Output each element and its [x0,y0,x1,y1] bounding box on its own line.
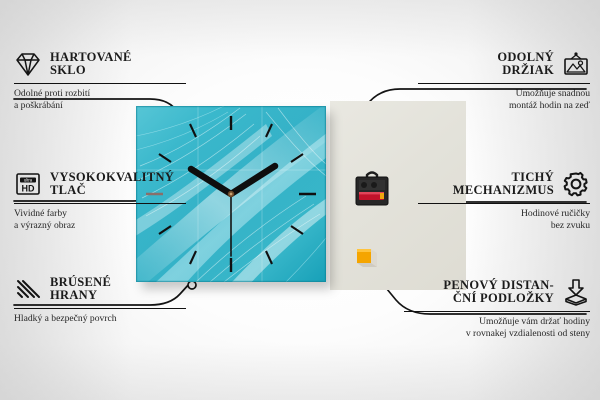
ultra-hd-badge-icon: ultra HD [14,170,42,198]
feature-subtitle-line1: Umožňuje vám držať hodiny [404,316,590,328]
feature-title: TICHÝ MECHANIZMUS [453,171,554,198]
feature-header: TICHÝ MECHANIZMUS [418,170,590,198]
feature-subtitle-line1: Odolné proti rozbití [14,88,186,100]
feature-tempered-glass: HARTOVANÉ SKLO Odolné proti rozbití a po… [14,50,186,111]
feature-ground-edges: BRÚSENÉ HRANY Hladký a bezpečný povrch [14,275,186,325]
feature-divider [418,203,590,204]
feature-subtitle-line1: Hladký a bezpečný povrch [14,313,186,325]
feature-header: BRÚSENÉ HRANY [14,275,186,303]
feature-divider [14,308,186,309]
foam-spacer-icon [562,278,590,306]
feature-subtitle-line1: Vividné farby [14,208,186,220]
svg-text:ultra: ultra [24,178,33,183]
feature-subtitle-line2: montáž hodin na zeď [418,100,590,112]
foam-spacer-pad [357,249,377,267]
feature-title: PENOVÝ DISTAN- ČNÍ PODLOŽKY [443,279,554,306]
diamond-icon [14,50,42,78]
gear-icon [562,170,590,198]
feature-durable-hanger: ODOLNÝ DRŽIAK Umožňuje snadnou montáž ho… [418,50,590,111]
feature-subtitle-line1: Hodinové ručičky [418,208,590,220]
feature-title: HARTOVANÉ SKLO [50,51,132,78]
feature-divider [14,83,186,84]
feature-title: VYSOKOKVALITNÝ TLAČ [50,171,174,198]
feature-subtitle-line2: a výrazný obraz [14,220,186,232]
feature-subtitle-line2: v rovnakej vzdialenosti od steny [404,328,590,340]
svg-text:HD: HD [22,183,35,193]
feature-subtitle-line1: Umožňuje snadnou [418,88,590,100]
feature-divider [418,83,590,84]
feature-foam-spacers: PENOVÝ DISTAN- ČNÍ PODLOŽKY Umožňuje vám… [404,278,590,339]
feature-divider [404,311,590,312]
feature-header: HARTOVANÉ SKLO [14,50,186,78]
feature-subtitle-line2: a poškrábání [14,100,186,112]
feature-header: ODOLNÝ DRŽIAK [418,50,590,78]
feature-title: BRÚSENÉ HRANY [50,276,111,303]
clock-mechanism [350,169,394,213]
feature-header: PENOVÝ DISTAN- ČNÍ PODLOŽKY [404,278,590,306]
feature-subtitle-line2: bez zvuku [418,220,590,232]
infographic-canvas: HARTOVANÉ SKLO Odolné proti rozbití a po… [0,0,600,400]
feature-high-quality-print: ultra HD VYSOKOKVALITNÝ TLAČ Vividné far… [14,170,186,231]
feature-silent-mechanism: TICHÝ MECHANIZMUS Hodinové ručičky bez z… [418,170,590,231]
wall-hanger-frame-icon [562,50,590,78]
feature-divider [14,203,186,204]
feature-header: ultra HD VYSOKOKVALITNÝ TLAČ [14,170,186,198]
ground-edges-icon [14,275,42,303]
feature-title: ODOLNÝ DRŽIAK [497,51,554,78]
